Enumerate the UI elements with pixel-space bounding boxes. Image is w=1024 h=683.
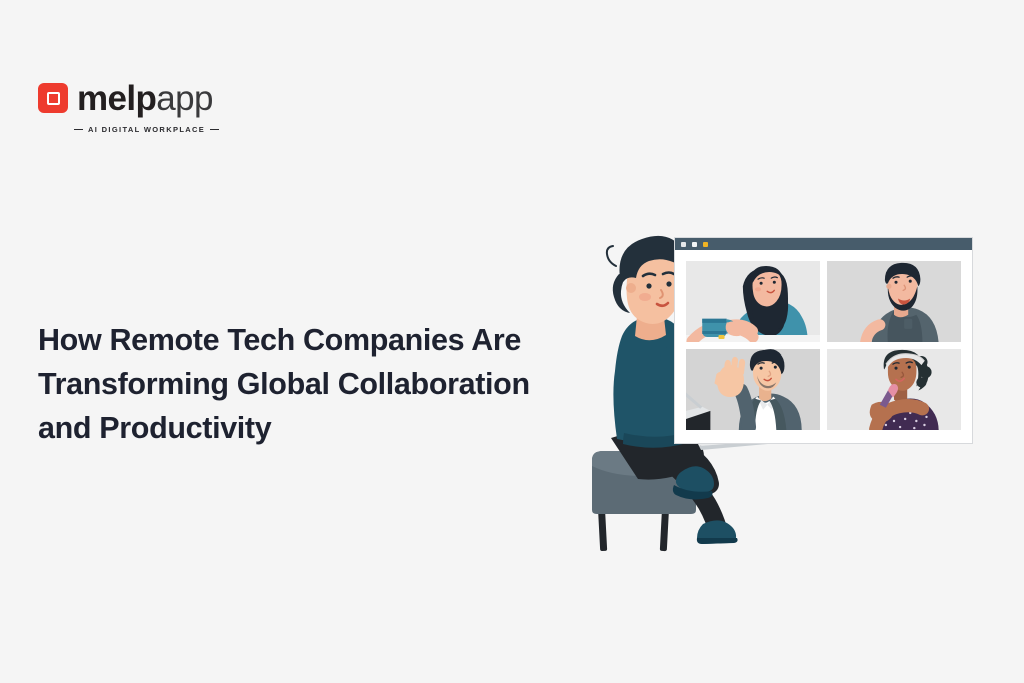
window-titlebar[interactable] <box>675 238 972 250</box>
logo-row: melpapp <box>38 78 248 118</box>
video-call-window[interactable] <box>675 238 972 443</box>
window-dot-maximize-icon[interactable] <box>692 242 697 247</box>
logo-inner-square-icon <box>47 92 60 105</box>
participant-3-avatar <box>686 349 820 430</box>
melp-logo-mark-icon <box>38 83 68 113</box>
page-title: How Remote Tech Companies Are Transformi… <box>38 318 578 450</box>
participant-1-avatar <box>686 261 820 342</box>
participant-tile-1[interactable] <box>686 261 820 342</box>
window-dot-close-icon[interactable] <box>703 242 708 247</box>
page-canvas: melpapp AI DIGITAL WORKPLACE How Remote … <box>0 0 1024 683</box>
tagline-dash-left-icon <box>74 129 83 130</box>
participant-2-avatar <box>827 261 961 342</box>
logo-tagline: AI DIGITAL WORKPLACE <box>74 125 248 134</box>
participant-grid <box>686 261 961 430</box>
participant-4-avatar <box>827 349 961 430</box>
participant-tile-3[interactable] <box>686 349 820 430</box>
tagline-text: AI DIGITAL WORKPLACE <box>88 125 205 134</box>
tagline-dash-right-icon <box>210 129 219 130</box>
logo-word-app: app <box>156 79 213 118</box>
logo-wordmark: melpapp <box>77 81 213 116</box>
brand-logo[interactable]: melpapp AI DIGITAL WORKPLACE <box>38 78 248 134</box>
window-dot-minimize-icon[interactable] <box>681 242 686 247</box>
participant-tile-4[interactable] <box>827 349 961 430</box>
far-shoe-icon <box>697 520 738 544</box>
window-content <box>675 250 972 443</box>
logo-word-melp: melp <box>77 79 156 118</box>
participant-tile-2[interactable] <box>827 261 961 342</box>
